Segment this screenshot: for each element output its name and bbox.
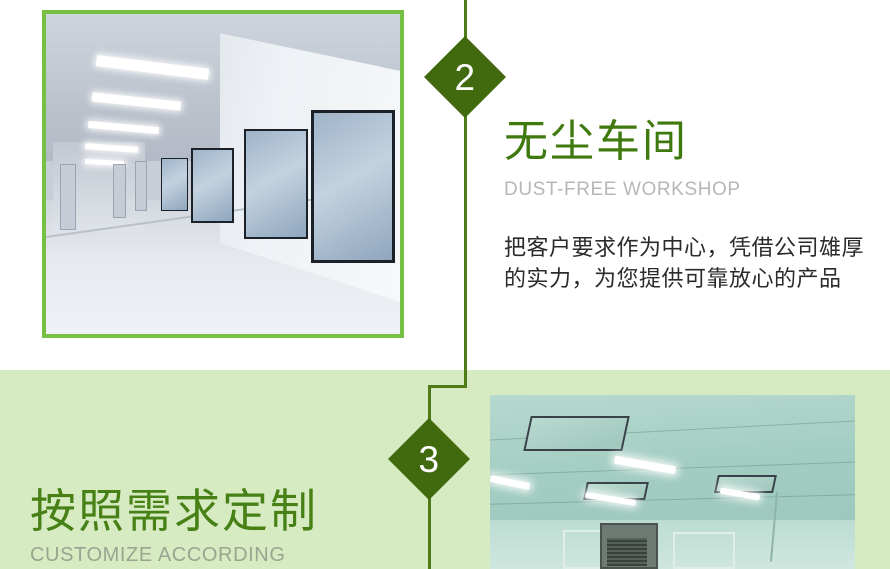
corridor-door bbox=[113, 164, 126, 217]
door-vent-grille bbox=[607, 538, 647, 566]
step-badge-3-number: 3 bbox=[419, 440, 440, 477]
infographic-page: 2 无尘车间 DUST-FREE WORKSHOP 把客户要求作为中心，凭借公司… bbox=[0, 0, 890, 569]
observation-window bbox=[311, 110, 395, 263]
corridor-door bbox=[60, 164, 76, 230]
corridor-illustration bbox=[46, 14, 400, 334]
ffu-panel bbox=[523, 416, 629, 451]
section-2-heading-cn: 无尘车间 bbox=[504, 118, 884, 166]
cleanroom-corridor-photo bbox=[42, 10, 404, 338]
section-2-heading-en: DUST-FREE WORKSHOP bbox=[504, 176, 884, 205]
section-3-heading-cn: 按照需求定制 bbox=[30, 487, 440, 535]
observation-window bbox=[191, 148, 234, 222]
observation-window bbox=[244, 129, 308, 239]
cleanroom-ceiling-photo bbox=[490, 395, 855, 569]
timeline-horizontal-jog bbox=[428, 385, 467, 388]
section-2-body-text: 把客户要求作为中心，凭借公司雄厚的实力，为您提供可靠放心的产品 bbox=[504, 232, 884, 294]
step-badge-2-number: 2 bbox=[455, 58, 476, 95]
observation-window bbox=[161, 158, 188, 211]
room-door-frame bbox=[673, 532, 735, 569]
corridor-door bbox=[135, 161, 148, 211]
ceiling-surface bbox=[490, 395, 855, 524]
step-badge-2: 2 bbox=[424, 36, 506, 118]
section-2-text-block: 无尘车间 DUST-FREE WORKSHOP 把客户要求作为中心，凭借公司雄厚… bbox=[504, 118, 884, 294]
section-3-text-block: 按照需求定制 CUSTOMIZE ACCORDING REQUIREMENT bbox=[30, 487, 440, 569]
section-3-heading-en: CUSTOMIZE ACCORDING REQUIREMENT bbox=[30, 541, 440, 569]
